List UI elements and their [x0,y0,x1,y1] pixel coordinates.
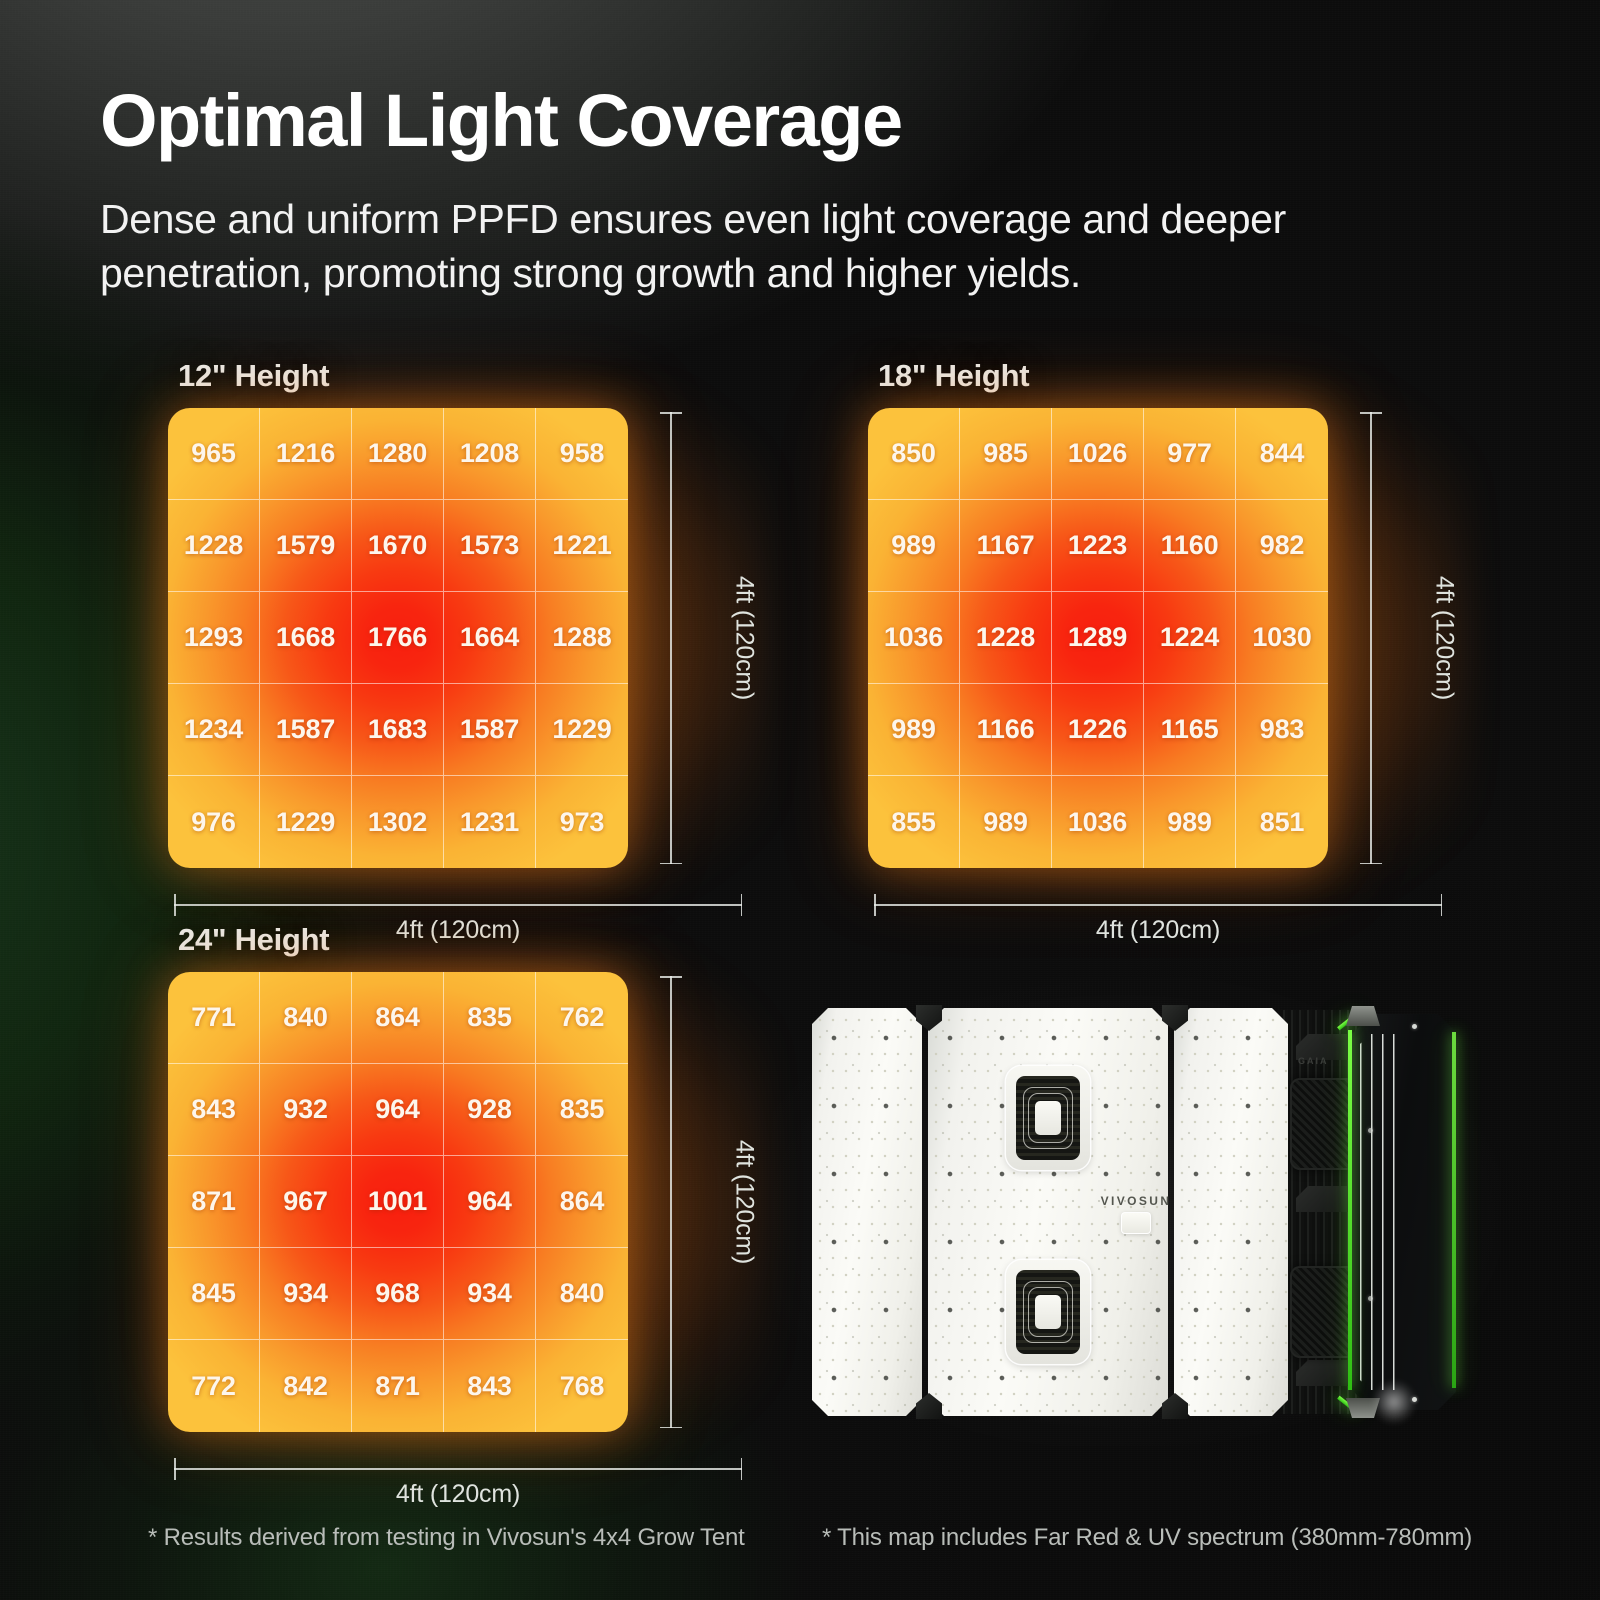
dimension-horizontal-18in: 4ft (120cm) [868,890,1448,948]
dimension-cap-right [1441,894,1443,916]
heatmap-cell: 840 [260,972,352,1064]
heatmap-cell: 1026 [1052,408,1144,500]
infographic-canvas: Optimal Light Coverage Dense and uniform… [0,0,1600,1600]
heatmap-cell: 762 [536,972,628,1064]
lens-core [1035,1295,1061,1329]
led-board-right [1174,1008,1288,1416]
heatmap-cell: 1221 [536,500,628,592]
dimension-cap-left [174,894,176,916]
heatmap-cell: 1166 [960,684,1052,776]
heatmap-cell: 835 [536,1064,628,1156]
dimension-label-vertical: 4ft (120cm) [730,576,759,700]
heatmap-cell: 1668 [260,592,352,684]
heatmap-cell: 982 [1236,500,1328,592]
heatmap-cell: 844 [1236,408,1328,500]
heatmap-cell: 967 [260,1156,352,1248]
product-image-grow-light: GAIA [812,1008,1460,1416]
dimension-vertical-18in: 4ft (120cm) [1352,408,1430,868]
dimension-label-horizontal: 4ft (120cm) [868,916,1448,945]
heatmap-cell: 1302 [352,776,444,868]
dimension-vertical-12in: 4ft (120cm) [652,408,730,868]
heatsink-plate [1296,1186,1354,1212]
heatsink-label: GAIA [1298,1056,1329,1066]
dimension-line [670,412,672,864]
screw-icon [1368,1128,1373,1133]
led-lens-module-bottom [1006,1260,1090,1364]
green-accent-right [1452,1032,1456,1388]
screw-icon [1368,1296,1373,1301]
dimension-cap-left [874,894,876,916]
heatmap-cell: 768 [536,1340,628,1432]
dimension-horizontal-24in: 4ft (120cm) [168,1454,748,1512]
dimension-line [874,904,1442,906]
heatmap-cell: 843 [444,1340,536,1432]
dimension-vertical-24in: 4ft (120cm) [652,972,730,1432]
heatmap-cell: 1036 [868,592,960,684]
dimension-cap-top [1360,412,1382,414]
heatmap-cell: 932 [260,1064,352,1156]
heatmap-cell: 771 [168,972,260,1064]
dimension-cap-top [660,976,682,978]
heatmap-cell-container: 9651216128012089581228157916701573122112… [168,408,628,868]
dimension-cap-right [741,894,743,916]
heatmap-cell: 1223 [1052,500,1144,592]
heatmap-cell: 845 [168,1248,260,1340]
map-title-12in: 12" Height [168,358,748,394]
heatmap-cell-container: 7718408648357628439329649288358719671001… [168,972,628,1432]
dimension-label-vertical: 4ft (120cm) [1430,576,1459,700]
heatmap-cell: 934 [444,1248,536,1340]
heatmap-wrapper-24in: 7718408648357628439329649288358719671001… [168,972,748,1432]
heatmap-cell: 1579 [260,500,352,592]
heatmap-grid-24in: 7718408648357628439329649288358719671001… [168,972,628,1432]
heatmap-cell: 1216 [260,408,352,500]
heatmap-cell: 928 [444,1064,536,1156]
heatmap-cell: 1160 [1144,500,1236,592]
page-title: Optimal Light Coverage [100,84,1520,158]
heatmap-grid-18in: 8509851026977844989116712231160982103612… [868,408,1328,868]
heatmap-cell: 855 [868,776,960,868]
screw-icon [1412,1024,1417,1029]
heatmap-cell: 968 [352,1248,444,1340]
map-title-24in: 24" Height [168,922,748,958]
dimension-cap-left [174,1458,176,1480]
heatmap-cell: 1587 [444,684,536,776]
dimension-cap-bottom [660,863,682,865]
heatmap-cell: 1664 [444,592,536,684]
heatmap-cell: 989 [868,500,960,592]
heatmap-cell: 851 [1236,776,1328,868]
heatmap-cell: 973 [536,776,628,868]
brand-logo-vivosun: VIVOSUN [1101,1194,1172,1208]
heatmap-cell: 1229 [536,684,628,776]
heatmap-cell: 976 [168,776,260,868]
footnote-left: * Results derived from testing in Vivosu… [148,1524,745,1552]
dimension-cap-bottom [660,1427,682,1429]
green-accent-left [1348,1030,1352,1390]
dimension-label-vertical: 4ft (120cm) [730,1140,759,1264]
heatmap-cell: 1036 [1052,776,1144,868]
heatmap-cell: 1280 [352,408,444,500]
heatmap-cell: 1293 [168,592,260,684]
footnote-right: * This map includes Far Red & UV spectru… [822,1524,1472,1552]
heatmap-cell: 1228 [960,592,1052,684]
dimension-line [174,1468,742,1470]
heatmap-cell: 934 [260,1248,352,1340]
heatmap-cell: 965 [168,408,260,500]
heatmap-wrapper-18in: 8509851026977844989116712231160982103612… [868,408,1448,868]
heatmap-cell: 1228 [168,500,260,592]
dimension-cap-right [741,1458,743,1480]
heatmap-cell: 977 [1144,408,1236,500]
dimension-cap-top [660,412,682,414]
brand-badge [1121,1212,1151,1234]
ppfd-map-12in: 12" Height 96512161280120895812281579167… [168,358,748,868]
rear-panel-stripes [1356,1034,1396,1390]
heatmap-cell: 958 [536,408,628,500]
corner-bracket-top [1346,1006,1380,1026]
heatmap-wrapper-12in: 9651216128012089581228157916701573122112… [168,408,748,868]
heatmap-grid-12in: 9651216128012089581228157916701573122112… [168,408,628,868]
heatmap-cell: 1001 [352,1156,444,1248]
heatmap-cell-container: 8509851026977844989116712231160982103612… [868,408,1328,868]
dimension-line [174,904,742,906]
led-board-left [812,1008,922,1416]
heatmap-cell: 1766 [352,592,444,684]
dimension-cap-bottom [1360,863,1382,865]
heatmap-cell: 843 [168,1064,260,1156]
dimension-label-horizontal: 4ft (120cm) [168,1480,748,1509]
heatmap-cell: 1208 [444,408,536,500]
led-lens-module-top [1006,1066,1090,1170]
heatmap-cell: 871 [168,1156,260,1248]
heatsink-plate [1296,1360,1354,1386]
page-subtitle: Dense and uniform PPFD ensures even ligh… [100,192,1440,300]
ppfd-map-18in: 18" Height 85098510269778449891167122311… [868,358,1448,868]
map-title-18in: 18" Height [868,358,1448,394]
heatmap-cell: 871 [352,1340,444,1432]
heatmap-cell: 1030 [1236,592,1328,684]
heatmap-cell: 864 [536,1156,628,1248]
heatmap-cell: 1231 [444,776,536,868]
dimension-line [1370,412,1372,864]
heatmap-cell: 1288 [536,592,628,684]
heatmap-cell: 840 [536,1248,628,1340]
heatmap-cell: 1670 [352,500,444,592]
dimension-line [670,976,672,1428]
heatmap-cell: 1229 [260,776,352,868]
heatmap-cell: 1573 [444,500,536,592]
heatmap-cell: 850 [868,408,960,500]
heatmap-cell: 1289 [1052,592,1144,684]
lens-core [1035,1101,1061,1135]
heatmap-cell: 1234 [168,684,260,776]
heatmap-cell: 842 [260,1340,352,1432]
heatmap-cell: 864 [352,972,444,1064]
heatmap-cell: 1587 [260,684,352,776]
heatmap-cell: 835 [444,972,536,1064]
heatmap-cell: 1226 [1052,684,1144,776]
heatmap-cell: 989 [960,776,1052,868]
ppfd-map-24in: 24" Height 77184086483576284393296492883… [168,922,748,1432]
heatmap-cell: 985 [960,408,1052,500]
heatmap-cell: 989 [868,684,960,776]
heatmap-cell: 772 [168,1340,260,1432]
heatmap-cell: 964 [444,1156,536,1248]
product-specular-highlight [1372,1380,1416,1424]
heatmap-cell: 1224 [1144,592,1236,684]
header: Optimal Light Coverage Dense and uniform… [100,84,1520,300]
heatmap-cell: 1167 [960,500,1052,592]
heatmap-cell: 983 [1236,684,1328,776]
heatmap-cell: 1165 [1144,684,1236,776]
heatmap-cell: 989 [1144,776,1236,868]
heatmap-cell: 964 [352,1064,444,1156]
heatmap-cell: 1683 [352,684,444,776]
